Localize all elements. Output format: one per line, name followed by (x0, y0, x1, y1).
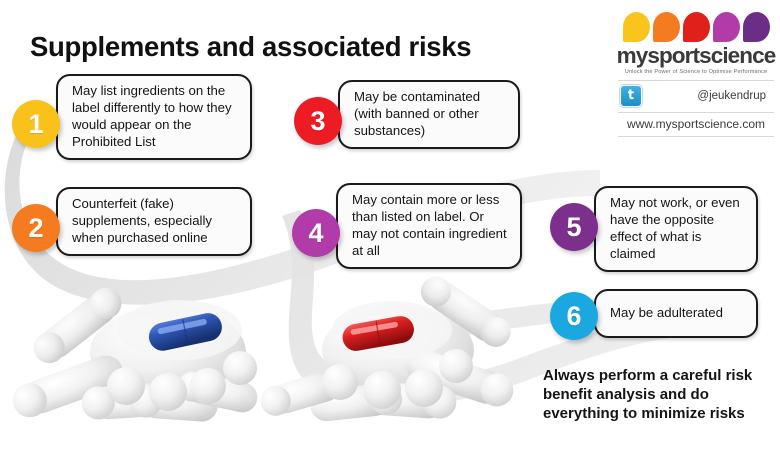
brand-dot-1 (623, 12, 650, 42)
page-title: Supplements and associated risks (30, 31, 471, 63)
brand-block: mysportscience Unlock the Power of Scien… (614, 12, 778, 141)
risk-card-6: 6 May be adulterated (594, 289, 758, 338)
left-hand (8, 282, 260, 423)
twitter-icon[interactable]: t (620, 85, 642, 107)
risk-number-4: 4 (292, 209, 340, 257)
brand-dot-3 (683, 12, 710, 42)
risk-text-6: May be adulterated (594, 289, 758, 338)
closing-statement: Always perform a careful risk benefit an… (543, 366, 773, 424)
brand-name: mysportscience (614, 44, 778, 68)
risk-card-2: 2 Counterfeit (fake) supplements, especi… (56, 187, 252, 256)
right-hand (257, 271, 518, 423)
brand-dot-5 (743, 12, 770, 42)
brand-dot-4 (713, 12, 740, 42)
brand-dots (614, 12, 778, 42)
risk-card-3: 3 May be contaminated (with banned or ot… (338, 80, 520, 149)
risk-number-5: 5 (550, 203, 598, 251)
risk-text-1: May list ingredients on the label differ… (56, 74, 252, 160)
risk-card-1: 1 May list ingredients on the label diff… (56, 74, 252, 160)
risk-number-2: 2 (12, 204, 60, 252)
risk-card-5: 5 May not work, or even have the opposit… (594, 186, 758, 272)
brand-divider-foot (618, 136, 774, 137)
risk-text-2: Counterfeit (fake) supplements, especial… (56, 187, 252, 256)
risk-number-1: 1 (12, 100, 60, 148)
risk-card-4: 4 May contain more or less than listed o… (336, 183, 522, 269)
twitter-handle[interactable]: @jeukendrup (697, 90, 772, 102)
brand-divider-top (618, 80, 774, 81)
brand-tagline: Unlock the Power of Science to Optimise … (614, 69, 778, 75)
website-url[interactable]: www.mysportscience.com (614, 117, 778, 131)
brand-dot-2 (653, 12, 680, 42)
risk-text-4: May contain more or less than listed on … (336, 183, 522, 269)
risk-text-5: May not work, or even have the opposite … (594, 186, 758, 272)
risk-number-3: 3 (294, 97, 342, 145)
brand-social-row: t @jeukendrup (614, 85, 778, 107)
brand-divider-bottom (618, 112, 774, 113)
supplements-risks-infographic: Supplements and associated risks mysport… (0, 0, 780, 470)
risk-number-6: 6 (550, 292, 598, 340)
risk-text-3: May be contaminated (with banned or othe… (338, 80, 520, 149)
